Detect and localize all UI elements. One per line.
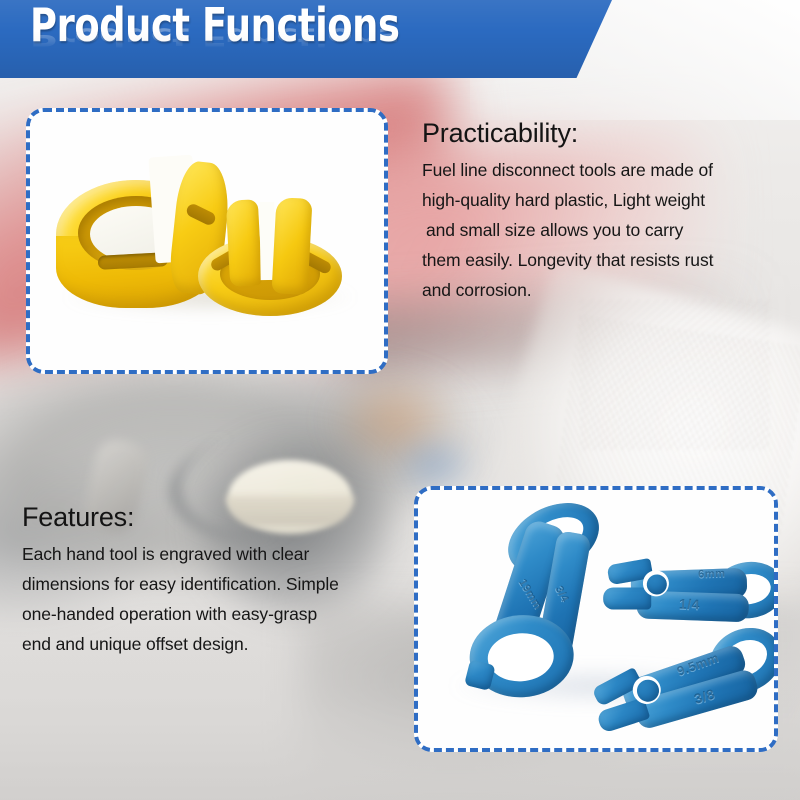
yellow-tools-photo-panel	[26, 108, 388, 374]
header-banner: Product Functions Product Functions	[0, 0, 612, 78]
yellow-disc-prong-left	[226, 199, 262, 287]
practicability-line-4: them easily. Longevity that resists rust	[422, 245, 713, 275]
features-line-3: one-handed operation with easy-grasp	[22, 599, 339, 629]
features-block: Features: Each hand tool is engraved wit…	[22, 502, 339, 659]
features-line-4: end and unique offset design.	[22, 629, 339, 659]
blue-panel-backdrop: 19mm 3/4 6mm 1/4	[418, 490, 774, 748]
yellow-panel-backdrop	[30, 112, 384, 370]
features-line-2: dimensions for easy identification. Simp…	[22, 569, 339, 599]
blue-tool-2-mark-imperial: 1/4	[679, 596, 701, 613]
blue-tools-photo-panel: 19mm 3/4 6mm 1/4	[414, 486, 778, 752]
page-title-reflection: Product Functions	[30, 22, 399, 52]
product-functions-infographic: Product Functions Product Functions	[0, 0, 800, 800]
yellow-twin-prong-tool	[198, 198, 342, 316]
practicability-line-3: and small size allows you to carry	[422, 215, 713, 245]
practicability-line-5: and corrosion.	[422, 275, 713, 305]
blue-tool-2-jaw-lower	[603, 587, 651, 609]
background-glove-texture-2	[580, 300, 770, 450]
practicability-block: Practicability: Fuel line disconnect too…	[422, 118, 713, 305]
features-heading: Features:	[22, 502, 339, 533]
blue-tool-2-mark-metric: 6mm	[698, 568, 726, 581]
practicability-line-1: Fuel line disconnect tools are made of	[422, 155, 713, 185]
practicability-heading: Practicability:	[422, 118, 713, 149]
practicability-line-2: high-quality hard plastic, Light weight	[422, 185, 713, 215]
features-line-1: Each hand tool is engraved with clear	[22, 539, 339, 569]
yellow-disc-prong-right	[272, 197, 313, 295]
